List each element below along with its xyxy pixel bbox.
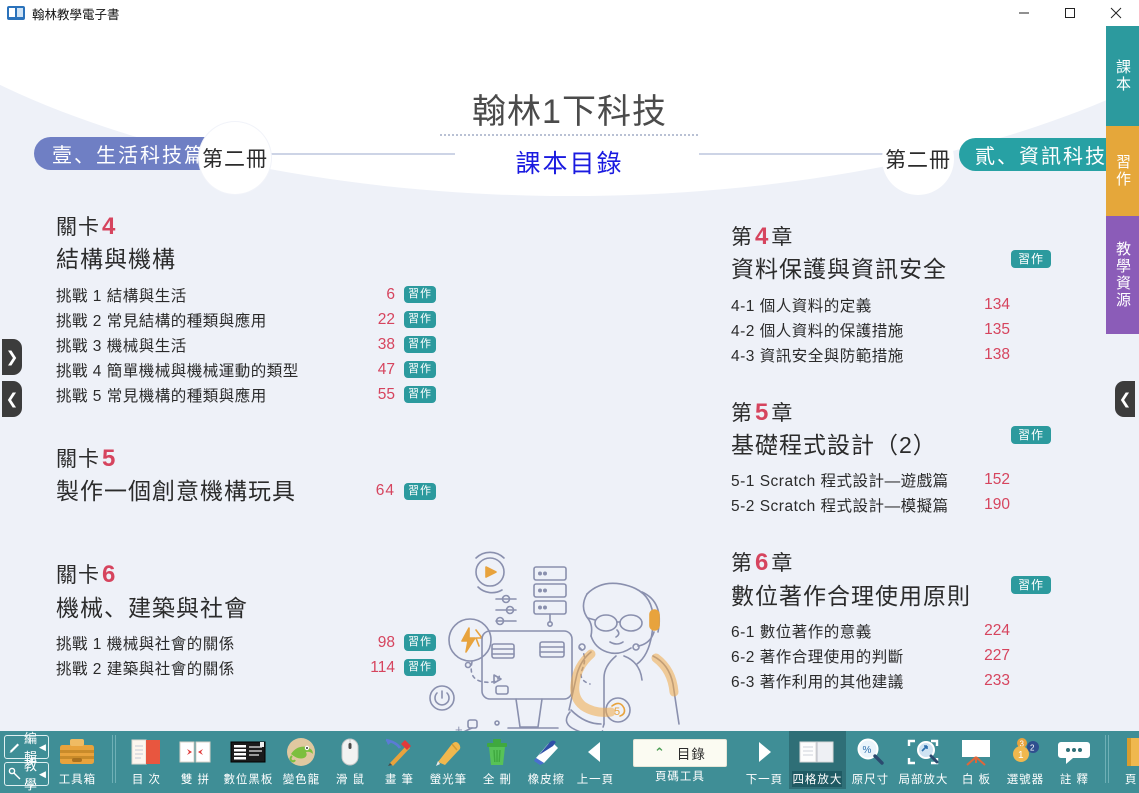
workbook-badge[interactable]: 習作	[404, 336, 436, 353]
toc-row-page: 38	[359, 336, 395, 354]
toc-row[interactable]: 4-1 個人資料的定義134	[731, 293, 1051, 317]
toolbox-label: 工具箱	[59, 771, 97, 787]
toolbar-separator-1	[112, 735, 116, 783]
toc-row-page: 114	[359, 659, 395, 677]
pointer-icon	[8, 767, 22, 781]
toolbar-item-highlighter[interactable]: 螢光筆	[424, 731, 473, 789]
toc-row-label: 挑戰 1 結構與生活	[56, 284, 187, 306]
toc-chapter: 關卡4結構與機構挑戰 1 結構與生活6習作挑戰 2 常見結構的種類與應用22習作…	[56, 211, 436, 407]
dual-page-icon	[177, 734, 213, 770]
toc-chapter: 第6章數位著作合理使用原則習作6-1 數位著作的意義2246-2 著作合理使用的…	[731, 547, 1051, 693]
toc-row-list: 5-1 Scratch 程式設計—遊戲篇1525-2 Scratch 程式設計—…	[731, 468, 1051, 517]
toc-row-page: 6	[359, 286, 395, 304]
toolbar-item-prev-page[interactable]: 上一頁	[571, 731, 620, 789]
teach-mode-arrow-icon: ◀	[39, 769, 46, 780]
toc-row-label: 挑戰 2 建築與社會的關係	[56, 657, 235, 679]
panel-collapse-left-icon[interactable]: ❮	[2, 381, 22, 417]
bookmark-icon	[1122, 734, 1139, 770]
toolbar-items: 工具箱 目 次	[49, 731, 1139, 793]
close-button[interactable]	[1093, 0, 1139, 26]
toolbar-item-page-tool[interactable]: ⌃ 目錄 頁碼工具	[620, 731, 740, 789]
svg-text:%: %	[863, 745, 872, 756]
workbook-badge[interactable]: 習作	[1011, 250, 1051, 268]
clear-all-label: 全 刪	[483, 771, 512, 787]
toc-row-page: 98	[359, 634, 395, 652]
toc-row[interactable]: 挑戰 3 機械與生活38習作	[56, 333, 436, 357]
chapter-heading[interactable]: 第4章	[731, 221, 1051, 253]
mouse-label: 滑 鼠	[336, 771, 365, 787]
chameleon-label: 變色龍	[283, 771, 321, 787]
toolbar-item-pen[interactable]: 畫 筆	[375, 731, 424, 789]
panel-expand-right-icon[interactable]: ❯	[2, 339, 22, 375]
chapter-heading[interactable]: 第6章	[731, 547, 1051, 579]
actual-size-label: 原尺寸	[852, 771, 890, 787]
toc-row-label: 6-2 著作合理使用的判斷	[731, 645, 904, 667]
toc-row[interactable]: 4-3 資訊安全與防範措施138	[731, 343, 1051, 367]
window-controls	[1001, 0, 1139, 26]
toc-row-label: 5-1 Scratch 程式設計—遊戲篇	[731, 469, 949, 491]
workbook-badge[interactable]: 習作	[404, 659, 436, 676]
toolbar-item-chameleon[interactable]: 變色龍	[277, 731, 326, 789]
toolbar-separator-2	[1105, 735, 1109, 783]
workbook-badge[interactable]: 習作	[404, 311, 436, 328]
toc-row-label: 挑戰 2 常見結構的種類與應用	[56, 309, 267, 331]
sidebar-tab-resources[interactable]: 教學資源	[1106, 216, 1139, 334]
right-volume-badge: 第二冊	[882, 123, 954, 195]
toolbar-item-bookmark[interactable]: 頁 籤	[1115, 731, 1139, 789]
toc-row-label: 6-3 著作利用的其他建議	[731, 670, 904, 692]
mouse-icon	[337, 734, 363, 770]
toc-row[interactable]: 5-1 Scratch 程式設計—遊戲篇152	[731, 468, 1051, 492]
toc-row-label: 挑戰 4 簡單機械與機械運動的類型	[56, 359, 299, 381]
toolbar-item-mouse[interactable]: 滑 鼠	[326, 731, 375, 789]
toc-row-page: 190	[964, 496, 1010, 514]
workbook-badge[interactable]: 習作	[1011, 426, 1051, 444]
chapter-heading[interactable]: 關卡6	[56, 559, 436, 591]
partial-zoom-icon	[905, 734, 941, 770]
chapter-prefix: 第	[731, 552, 753, 575]
toolbar-item-eraser[interactable]: 橡皮擦	[522, 731, 571, 789]
quad-zoom-label: 四格放大	[792, 771, 842, 787]
toc-row[interactable]: 挑戰 5 常見機構的種類與應用55習作	[56, 383, 436, 407]
toolbar-item-contents[interactable]: 目 次	[122, 731, 171, 789]
book-icon	[7, 5, 25, 21]
toc-row-label: 4-2 個人資料的保護措施	[731, 319, 904, 341]
chapter-number: 5	[100, 445, 118, 472]
workbook-badge[interactable]: 習作	[404, 286, 436, 303]
chevron-up-icon[interactable]: ⌃	[654, 745, 665, 761]
toc-row[interactable]: 5-2 Scratch 程式設計—模擬篇190	[731, 493, 1051, 517]
page-title: 翰林1下科技	[0, 84, 1139, 133]
chapter-title[interactable]: 結構與機構	[56, 243, 436, 275]
next-page-label: 下一頁	[746, 771, 784, 787]
edit-mode-arrow-icon: ◀	[39, 742, 46, 753]
toc-row-page: 233	[964, 672, 1010, 690]
toc-row-page: 47	[359, 361, 395, 379]
prev-page-label: 上一頁	[577, 771, 615, 787]
toolbar-item-toolbox[interactable]: 工具箱	[49, 731, 106, 789]
page-tool-label: 頁碼工具	[655, 768, 705, 784]
page-number-input[interactable]: ⌃ 目錄	[633, 739, 727, 767]
actual-size-icon: %	[854, 734, 886, 770]
title-divider	[440, 134, 698, 136]
toc-row-label: 5-2 Scratch 程式設計—模擬篇	[731, 494, 949, 516]
workbook-badge[interactable]: 習作	[404, 483, 436, 500]
chapter-number: 6	[753, 549, 771, 576]
chapter-title[interactable]: 製作一個創意機構玩具64習作	[56, 475, 436, 507]
maximize-button[interactable]	[1047, 0, 1093, 26]
toolbar-item-next-page[interactable]: 下一頁	[740, 731, 789, 789]
chapter-number: 4	[753, 223, 771, 250]
toc-row[interactable]: 挑戰 2 建築與社會的關係114習作	[56, 656, 436, 680]
toolbar-item-whiteboard[interactable]: 白 板	[952, 731, 1001, 789]
toc-row[interactable]: 挑戰 1 機械與社會的關係98習作	[56, 631, 436, 655]
toolbar-item-quad-zoom[interactable]: 四格放大	[789, 731, 846, 789]
toc-row-label: 6-1 數位著作的意義	[731, 620, 872, 642]
chapter-prefix: 第	[731, 226, 753, 249]
toolbar-item-number-picker[interactable]: 3 2 1 選號器	[1001, 731, 1050, 789]
workbook-badge[interactable]: 習作	[404, 634, 436, 651]
svg-text:+: +	[455, 722, 463, 731]
page-number-value: 目錄	[677, 743, 706, 763]
right-side-tabs: 課本 習作 教學資源	[1106, 26, 1139, 334]
workbook-badge[interactable]: 習作	[404, 386, 436, 403]
right-panel-toggle-icon[interactable]: ❮	[1115, 381, 1135, 417]
workbook-badge[interactable]: 習作	[404, 361, 436, 378]
pen-icon	[383, 734, 415, 770]
whiteboard-icon	[958, 734, 994, 770]
toc-left-column: 關卡4結構與機構挑戰 1 結構與生活6習作挑戰 2 常見結構的種類與應用22習作…	[56, 211, 436, 716]
partial-zoom-label: 局部放大	[898, 771, 948, 787]
pencil-icon	[8, 740, 22, 754]
sidebar-tab-workbook[interactable]: 習作	[1106, 126, 1139, 216]
toc-chapter: 第4章資料保護與資訊安全習作4-1 個人資料的定義1344-2 個人資料的保護措…	[731, 221, 1051, 367]
chapter-suffix: 章	[771, 226, 793, 249]
student-computer-illustration: +	[420, 534, 720, 731]
dual-page-label: 雙 拼	[181, 771, 210, 787]
toc-row-list: 挑戰 1 結構與生活6習作挑戰 2 常見結構的種類與應用22習作挑戰 3 機械與…	[56, 283, 436, 407]
toc-row-label: 挑戰 1 機械與社會的關係	[56, 632, 235, 654]
chapter-suffix: 章	[771, 402, 793, 425]
toc-row-list: 6-1 數位著作的意義2246-2 著作合理使用的判斷2276-3 著作利用的其…	[731, 619, 1051, 693]
toc-right-column: 第4章資料保護與資訊安全習作4-1 個人資料的定義1344-2 個人資料的保護措…	[731, 221, 1051, 723]
toolbar-item-blackboard[interactable]: 數位黑板	[220, 731, 277, 789]
toolbar-item-dual-page[interactable]: 雙 拼	[171, 731, 220, 789]
toc-chapter: 關卡6機械、建築與社會挑戰 1 機械與社會的關係98習作挑戰 2 建築與社會的關…	[56, 559, 436, 680]
chapter-page-number: 64	[376, 480, 395, 502]
toc-row[interactable]: 挑戰 4 簡單機械與機械運動的類型47習作	[56, 358, 436, 382]
toc-row-page: 135	[964, 321, 1010, 339]
annotation-icon	[1057, 734, 1091, 770]
toc-row-list: 挑戰 1 機械與社會的關係98習作挑戰 2 建築與社會的關係114習作	[56, 631, 436, 680]
quad-zoom-icon	[796, 734, 838, 770]
book-page-canvas[interactable]: 翰林1下科技 課本目錄 壹、生活科技篇 第二冊 貳、資訊科技篇 第二冊	[0, 26, 1139, 731]
chameleon-icon	[283, 734, 319, 770]
toc-row[interactable]: 挑戰 2 常見結構的種類與應用22習作	[56, 308, 436, 332]
chapter-suffix: 章	[771, 552, 793, 575]
toolbar-item-partial-zoom[interactable]: 局部放大	[895, 731, 952, 789]
chapter-title[interactable]: 資料保護與資訊安全	[731, 253, 1051, 285]
toc-row[interactable]: 6-3 著作利用的其他建議233	[731, 669, 1051, 693]
chapter-heading[interactable]: 第5章	[731, 397, 1051, 429]
toc-row-page: 224	[964, 622, 1010, 640]
chapter-heading[interactable]: 關卡4	[56, 211, 436, 243]
contents-label: 目 次	[132, 771, 161, 787]
eraser-icon	[530, 734, 562, 770]
toc-row-label: 4-1 個人資料的定義	[731, 294, 872, 316]
chapter-prefix: 關卡	[56, 216, 100, 239]
toc-row[interactable]: 4-2 個人資料的保護措施135	[731, 318, 1051, 342]
toolbar-item-actual-size[interactable]: % 原尺寸	[846, 731, 895, 789]
left-volume-badge: 第二冊	[199, 122, 271, 194]
workbook-badge[interactable]: 習作	[1011, 576, 1051, 594]
minimize-button[interactable]	[1001, 0, 1047, 26]
blackboard-label: 數位黑板	[223, 771, 273, 787]
highlighter-label: 螢光筆	[430, 771, 468, 787]
toc-row-page: 138	[964, 346, 1010, 364]
svg-text:1: 1	[1018, 750, 1024, 761]
left-section-pill[interactable]: 壹、生活科技篇	[34, 137, 222, 170]
toc-row[interactable]: 6-1 數位著作的意義224	[731, 619, 1051, 643]
bottom-toolbar: 編 輯 ◀ 教 學 ◀	[0, 731, 1139, 793]
next-page-icon	[750, 734, 778, 770]
chapter-title[interactable]: 基礎程式設計（2）	[731, 429, 1051, 461]
toolbar-item-annotation[interactable]: 註 釋	[1050, 731, 1099, 789]
mode-buttons: 編 輯 ◀ 教 學 ◀	[0, 731, 49, 789]
toc-row-label: 4-3 資訊安全與防範措施	[731, 344, 904, 366]
highlighter-icon	[432, 734, 464, 770]
toc-row[interactable]: 6-2 著作合理使用的判斷227	[731, 644, 1051, 668]
sidebar-tab-textbook[interactable]: 課本	[1106, 26, 1139, 126]
eraser-label: 橡皮擦	[528, 771, 566, 787]
teach-mode-button[interactable]: 教 學 ◀	[4, 762, 49, 786]
chapter-prefix: 關卡	[56, 564, 100, 587]
toc-row-page: 55	[359, 386, 395, 404]
toc-row-page: 134	[964, 296, 1010, 314]
prev-page-icon	[581, 734, 609, 770]
toc-chapter: 關卡5製作一個創意機構玩具64習作	[56, 443, 436, 508]
chapter-prefix: 關卡	[56, 448, 100, 471]
toc-row-label: 挑戰 3 機械與生活	[56, 334, 187, 356]
toc-chapter: 第5章基礎程式設計（2）習作5-1 Scratch 程式設計—遊戲篇1525-2…	[731, 397, 1051, 518]
toc-row-page: 227	[964, 647, 1010, 665]
chapter-number: 6	[100, 561, 118, 588]
annotation-label: 註 釋	[1060, 771, 1089, 787]
blackboard-icon	[228, 734, 268, 770]
toolbar-item-clear-all[interactable]: 全 刪	[473, 731, 522, 789]
toc-row-label: 挑戰 5 常見機構的種類與應用	[56, 384, 267, 406]
svg-text:2: 2	[1030, 744, 1035, 753]
chapter-prefix: 第	[731, 402, 753, 425]
chapter-title[interactable]: 數位著作合理使用原則	[731, 580, 1051, 612]
number-picker-label: 選號器	[1007, 771, 1045, 787]
teach-mode-label: 教 學	[24, 755, 39, 793]
toc-row-list: 4-1 個人資料的定義1344-2 個人資料的保護措施1354-3 資訊安全與防…	[731, 293, 1051, 367]
chapter-title[interactable]: 機械、建築與社會	[56, 592, 436, 624]
number-picker-icon: 3 2 1	[1008, 734, 1042, 770]
toc-row-page: 22	[359, 311, 395, 329]
pen-label: 畫 筆	[385, 771, 414, 787]
toc-row-page: 152	[964, 471, 1010, 489]
contents-icon	[128, 734, 164, 770]
toolbox-icon	[57, 734, 97, 770]
application-window: 翰林教學電子書 翰林1下科技 課本目錄 壹、生活科技篇 第二冊 貳、資訊科技篇 …	[0, 0, 1139, 793]
toc-row[interactable]: 挑戰 1 結構與生活6習作	[56, 283, 436, 307]
chapter-heading[interactable]: 關卡5	[56, 443, 436, 475]
right-banner-line	[699, 153, 889, 155]
left-banner-line	[265, 153, 455, 155]
chapter-number: 5	[753, 399, 771, 426]
window-title: 翰林教學電子書	[32, 4, 120, 23]
window-titlebar: 翰林教學電子書	[0, 0, 1139, 27]
bookmark-label: 頁 籤	[1125, 771, 1139, 787]
chapter-number: 4	[100, 213, 118, 240]
trash-icon	[483, 734, 511, 770]
whiteboard-label: 白 板	[962, 771, 991, 787]
